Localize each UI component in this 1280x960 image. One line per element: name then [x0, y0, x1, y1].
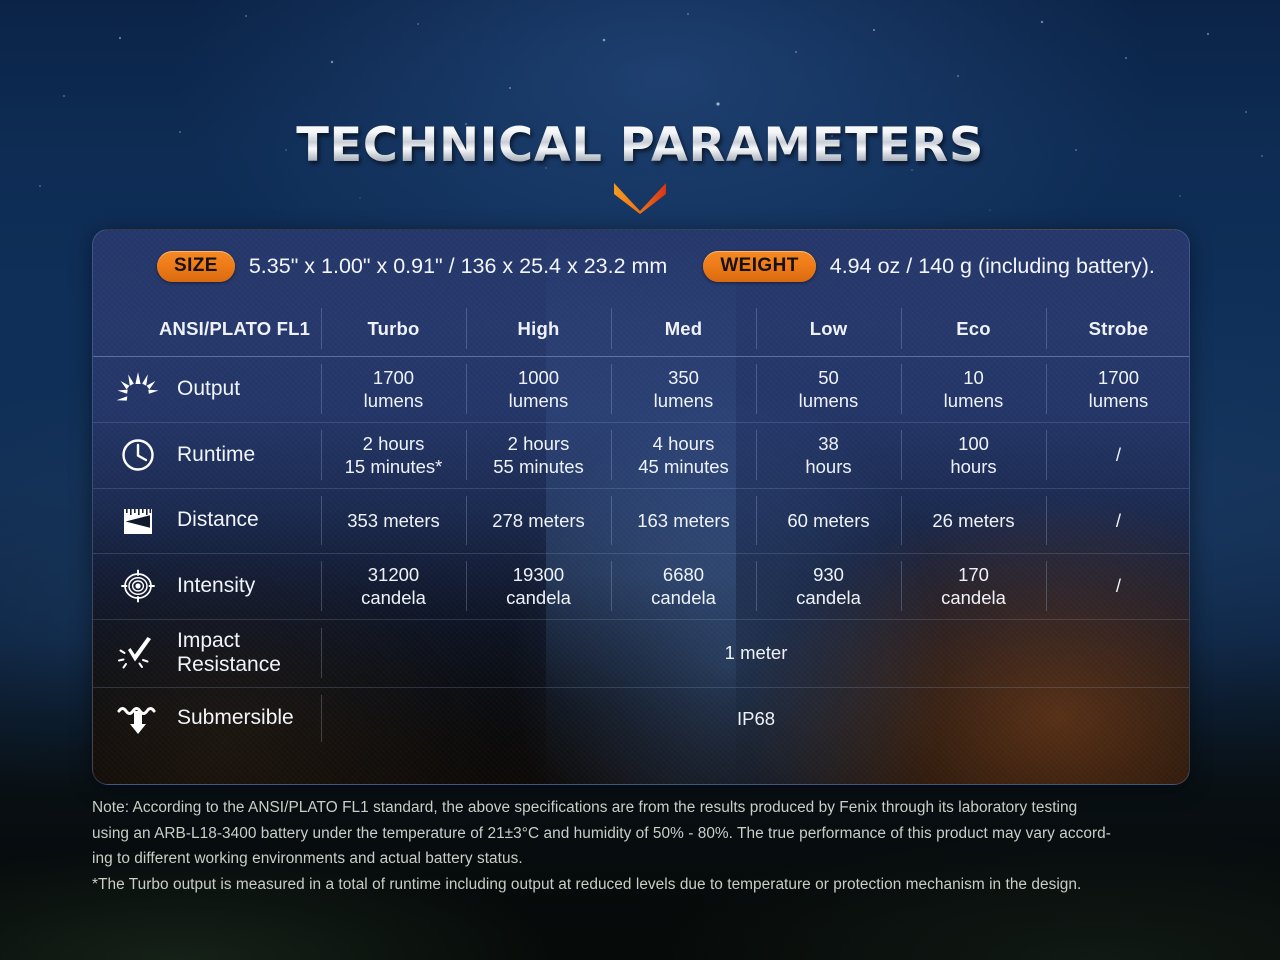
table-body: Output 1700lumens 1000lumens 350lumens 5…	[93, 356, 1190, 749]
header-turbo: Turbo	[321, 302, 466, 356]
header-row: ANSI/PLATO FL1 Turbo High Med Low Eco St…	[93, 302, 1190, 356]
cell-intensity-eco: 170candela	[901, 553, 1046, 619]
size-weight-strip: SIZE 5.35" x 1.00" x 0.91" / 136 x 25.4 …	[93, 230, 1189, 302]
row-label-output: Output	[93, 356, 321, 422]
note-line-2: using an ARB-L18-3400 battery under the …	[92, 821, 1204, 847]
row-label-submersible: Submersible	[93, 687, 321, 749]
cell-runtime-strobe: /	[1046, 422, 1190, 488]
note-line-4: *The Turbo output is measured in a total…	[92, 872, 1204, 898]
row-label-text: Runtime	[177, 443, 255, 467]
page-title: TECHNICAL PARAMETERS	[296, 118, 984, 173]
table-row-impact-resistance: Impact Resistance 1 meter	[93, 619, 1190, 687]
cell-output-turbo: 1700lumens	[321, 356, 466, 422]
cell-intensity-high: 19300candela	[466, 553, 611, 619]
table-header: ANSI/PLATO FL1 Turbo High Med Low Eco St…	[93, 302, 1190, 356]
impact-drop-icon	[115, 633, 161, 673]
table-row-runtime: Runtime 2 hours15 minutes* 2 hours55 min…	[93, 422, 1190, 488]
cell-runtime-eco: 100hours	[901, 422, 1046, 488]
target-crosshair-icon	[115, 566, 161, 606]
cell-distance-high: 278 meters	[466, 488, 611, 553]
weight-badge: WEIGHT	[703, 251, 815, 282]
beam-distance-ruler-icon	[115, 501, 161, 541]
cell-runtime-high: 2 hours55 minutes	[466, 422, 611, 488]
table-row-submersible: Submersible IP68	[93, 687, 1190, 749]
header-ansi-plato: ANSI/PLATO FL1	[93, 302, 321, 356]
cell-intensity-turbo: 31200candela	[321, 553, 466, 619]
header-med: Med	[611, 302, 756, 356]
cell-distance-eco: 26 meters	[901, 488, 1046, 553]
size-value: 5.35" x 1.00" x 0.91" / 136 x 25.4 x 23.…	[249, 254, 668, 279]
cell-intensity-low: 930candela	[756, 553, 901, 619]
note-line-3: ing to different working environments an…	[92, 846, 1204, 872]
cell-output-high: 1000lumens	[466, 356, 611, 422]
technical-parameters-table: ANSI/PLATO FL1 Turbo High Med Low Eco St…	[93, 302, 1190, 749]
row-label-text: Output	[177, 377, 240, 401]
header-low: Low	[756, 302, 901, 356]
row-label-text: Intensity	[177, 574, 255, 598]
note-line-1: Note: According to the ANSI/PLATO FL1 st…	[92, 795, 1204, 821]
row-label-text: Impact Resistance	[177, 629, 281, 677]
cell-intensity-med: 6680candela	[611, 553, 756, 619]
row-label-text: Distance	[177, 508, 259, 532]
table-row-output: Output 1700lumens 1000lumens 350lumens 5…	[93, 356, 1190, 422]
row-label-impact-resistance: Impact Resistance	[93, 619, 321, 687]
title-section: TECHNICAL PARAMETERS	[0, 118, 1280, 215]
specs-panel: SIZE 5.35" x 1.00" x 0.91" / 136 x 25.4 …	[92, 229, 1190, 785]
cell-distance-med: 163 meters	[611, 488, 756, 553]
row-label-text: Submersible	[177, 706, 294, 730]
table-row-distance: Distance 353 meters 278 meters 163 meter…	[93, 488, 1190, 553]
cell-submersible-value: IP68	[321, 687, 1190, 749]
cell-distance-turbo: 353 meters	[321, 488, 466, 553]
cell-output-strobe: 1700lumens	[1046, 356, 1190, 422]
cell-intensity-strobe: /	[1046, 553, 1190, 619]
cell-runtime-med: 4 hours45 minutes	[611, 422, 756, 488]
cell-output-med: 350lumens	[611, 356, 756, 422]
cell-runtime-low: 38hours	[756, 422, 901, 488]
cell-runtime-turbo: 2 hours15 minutes*	[321, 422, 466, 488]
table-row-intensity: Intensity 31200candela 19300candela 6680…	[93, 553, 1190, 619]
light-burst-icon	[115, 369, 161, 409]
cell-output-eco: 10lumens	[901, 356, 1046, 422]
chevron-down-icon	[612, 181, 668, 215]
header-eco: Eco	[901, 302, 1046, 356]
row-label-distance: Distance	[93, 488, 321, 553]
size-badge: SIZE	[157, 251, 235, 282]
clock-icon	[115, 435, 161, 475]
header-high: High	[466, 302, 611, 356]
weight-value: 4.94 oz / 140 g (including battery).	[830, 254, 1155, 279]
cell-output-low: 50lumens	[756, 356, 901, 422]
header-strobe: Strobe	[1046, 302, 1190, 356]
water-submersion-icon	[115, 698, 161, 738]
row-label-intensity: Intensity	[93, 553, 321, 619]
cell-distance-low: 60 meters	[756, 488, 901, 553]
row-label-runtime: Runtime	[93, 422, 321, 488]
cell-impact-resistance-value: 1 meter	[321, 619, 1190, 687]
note-block: Note: According to the ANSI/PLATO FL1 st…	[92, 795, 1204, 897]
cell-distance-strobe: /	[1046, 488, 1190, 553]
